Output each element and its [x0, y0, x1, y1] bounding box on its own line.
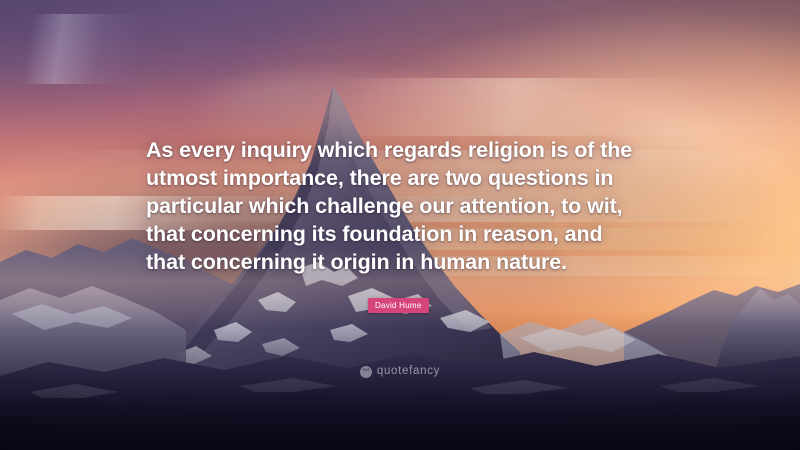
quote-text-block: As every inquiry which regards religion …	[146, 136, 658, 276]
author-name: David Hume	[375, 302, 422, 310]
quote-line: that concerning it origin in human natur…	[146, 248, 658, 276]
quote-line: particular which challenge our attention…	[146, 192, 658, 220]
quote-wallpaper-card: As every inquiry which regards religion …	[0, 0, 800, 450]
quote-line: utmost importance, there are two questio…	[146, 164, 658, 192]
quote-line: that concerning its foundation in reason…	[146, 220, 658, 248]
brand-name: quotefancy	[377, 366, 440, 378]
quote-mark-icon: ““	[360, 366, 372, 378]
quote-line: As every inquiry which regards religion …	[146, 136, 658, 164]
author-badge[interactable]: David Hume	[368, 298, 429, 313]
content-overlay: As every inquiry which regards religion …	[0, 0, 800, 450]
quotefancy-watermark[interactable]: ““ quotefancy	[0, 366, 800, 378]
quote-mark-glyph: ““	[363, 368, 369, 375]
